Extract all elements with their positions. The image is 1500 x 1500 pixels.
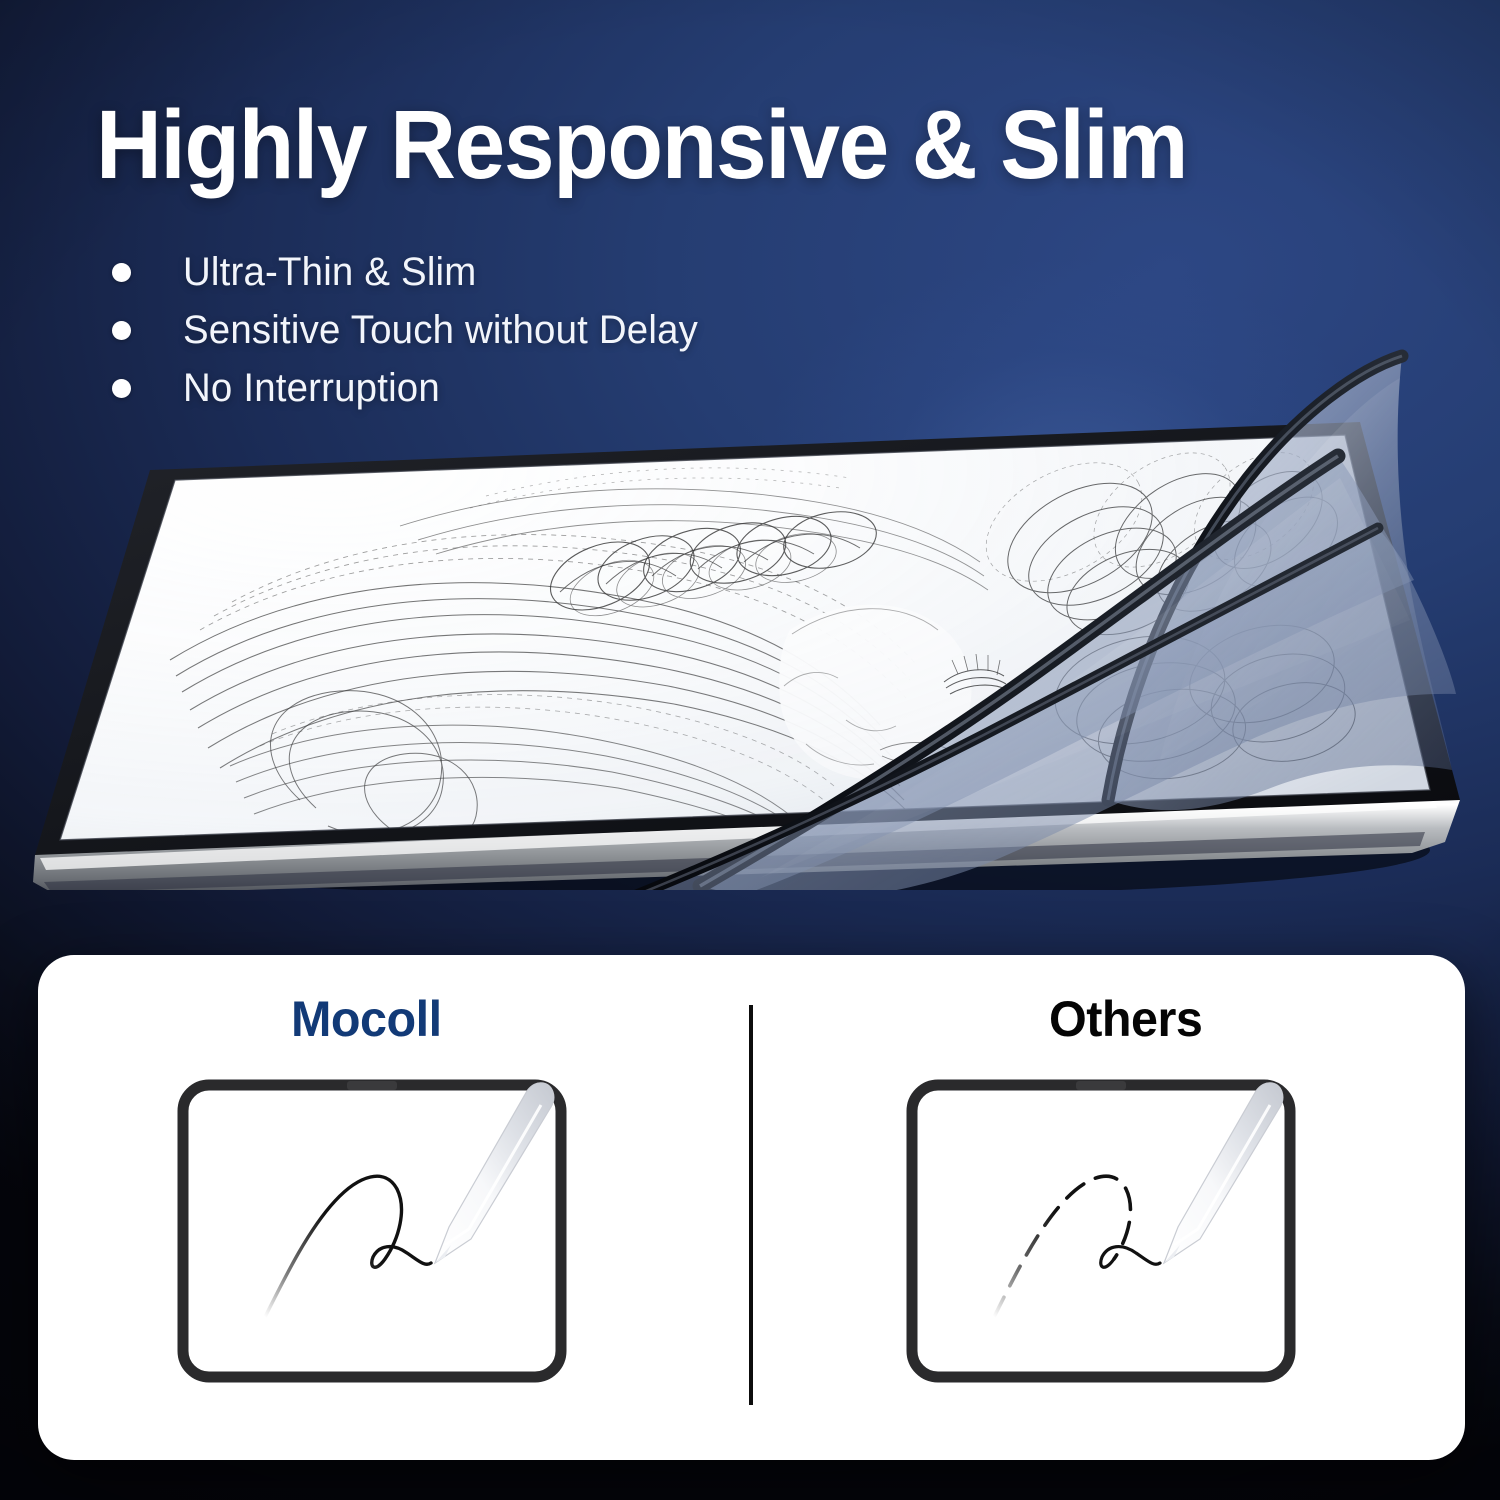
- tablet-demo-mocoll: [169, 1067, 589, 1407]
- tablet-with-films-graphic: [0, 330, 1500, 890]
- broken-stroke-demo: [898, 1067, 1318, 1407]
- feature-label: Ultra-Thin & Slim: [183, 250, 476, 295]
- camera-notch-icon: [1076, 1081, 1126, 1090]
- page-title: Highly Responsive & Slim: [96, 96, 1356, 193]
- tablet-frame: [912, 1085, 1290, 1377]
- hero-illustration: [0, 330, 1500, 890]
- camera-notch-icon: [347, 1081, 397, 1090]
- list-item: Ultra-Thin & Slim: [112, 243, 719, 301]
- comparison-panel-others: Others: [753, 955, 1465, 1460]
- tablet-frame: [183, 1085, 561, 1377]
- tablet-demo-others: [898, 1067, 1318, 1407]
- bullet-dot-icon: [112, 263, 131, 282]
- comparison-card: Mocoll: [38, 955, 1465, 1460]
- product-feature-page: Highly Responsive & Slim Ultra-Thin & Sl…: [0, 0, 1500, 1500]
- panel-label-others: Others: [1049, 990, 1202, 1048]
- smooth-stroke-demo: [169, 1067, 589, 1407]
- panel-label-mocoll: Mocoll: [291, 990, 442, 1048]
- comparison-panel-mocoll: Mocoll: [38, 955, 749, 1460]
